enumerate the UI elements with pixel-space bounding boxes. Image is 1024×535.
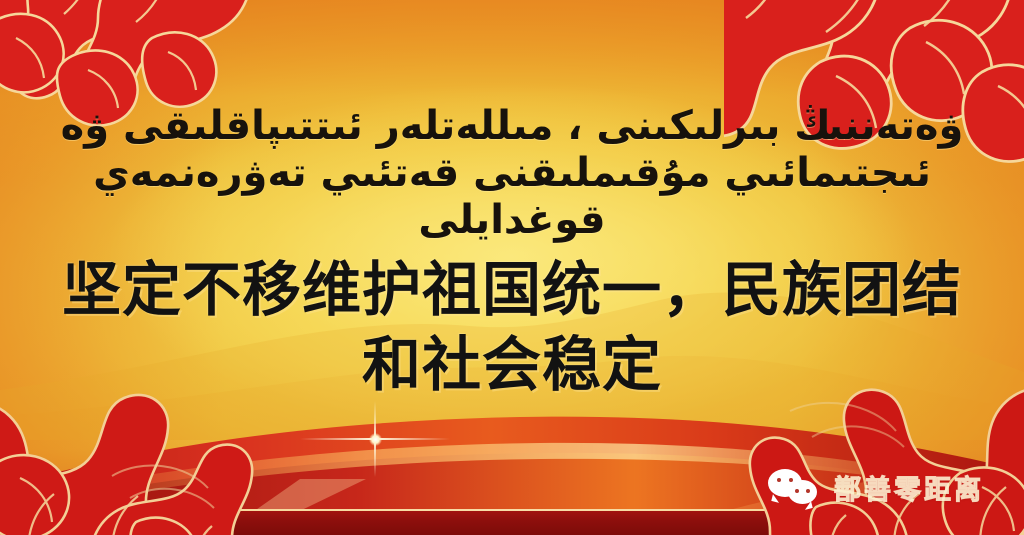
- uyghur-headline-line-1: ۋەتەننىڭ بىرلىكىنى ، مىللەتلەر ئىتتىپاقل…: [37, 104, 987, 149]
- uyghur-headline-line-2: ئىجتىمائىي مۇقىملىقنى قەتئىي تەۋرەنمەي: [37, 151, 987, 196]
- chinese-headline-line-1: 坚定不移维护祖国统一，民族团结: [0, 256, 1024, 324]
- chinese-headline-line-2: 和社会稳定: [0, 331, 1024, 399]
- wechat-icon: [768, 469, 822, 507]
- propaganda-poster: ۋەتەننىڭ بىرلىكىنى ، مىللەتلەر ئىتتىپاقل…: [0, 0, 1024, 535]
- star-sparkle: [300, 401, 450, 477]
- wechat-account-name: 鄯善零距离: [834, 468, 984, 507]
- uyghur-headline-line-3: قوغدايلى: [37, 198, 987, 243]
- headline-text-block: ۋەتەننىڭ بىرلىكىنى ، مىللەتلەر ئىتتىپاقل…: [0, 0, 1024, 399]
- bottom-border-strip: [0, 509, 1024, 535]
- wechat-account-badge: 鄯善零距离: [768, 468, 984, 507]
